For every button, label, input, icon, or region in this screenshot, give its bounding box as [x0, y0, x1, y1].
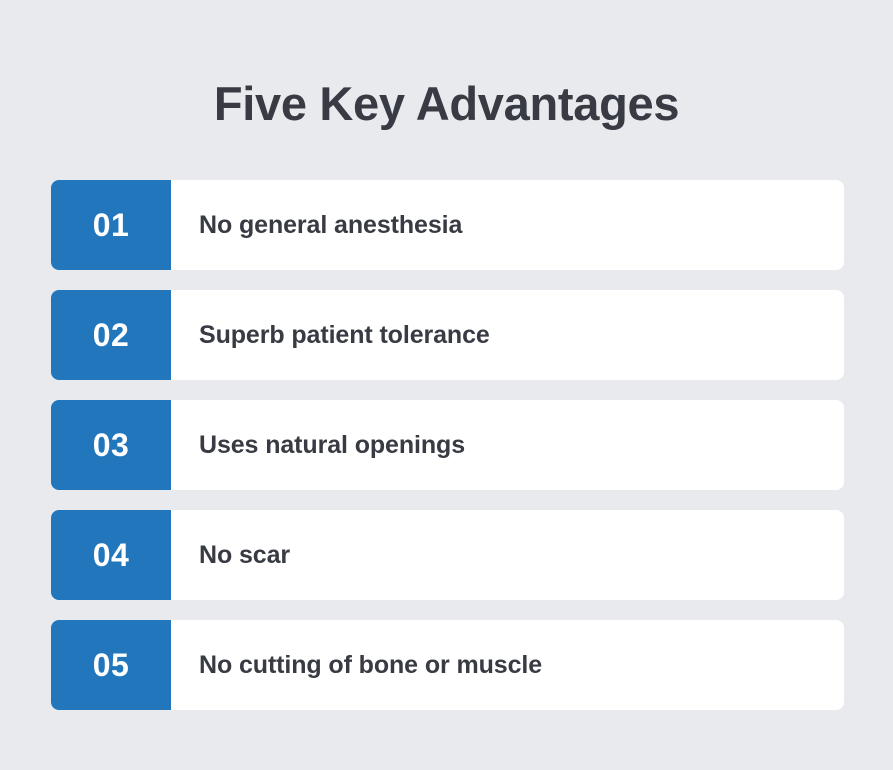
advantage-card: Uses natural openings	[171, 400, 844, 490]
advantage-card: No scar	[171, 510, 844, 600]
advantage-number-badge: 04	[51, 510, 171, 600]
advantage-list: 01 No general anesthesia 02 Superb patie…	[51, 180, 844, 710]
advantage-label: Uses natural openings	[199, 430, 465, 460]
slide-container: Five Key Advantages 01 No general anesth…	[0, 0, 893, 770]
advantage-label: Superb patient tolerance	[199, 320, 490, 350]
page-title: Five Key Advantages	[0, 76, 893, 131]
list-item[interactable]: 02 Superb patient tolerance	[51, 290, 844, 380]
list-item[interactable]: 04 No scar	[51, 510, 844, 600]
advantage-card: No general anesthesia	[171, 180, 844, 270]
advantage-label: No scar	[199, 540, 290, 570]
list-item[interactable]: 03 Uses natural openings	[51, 400, 844, 490]
advantage-label: No cutting of bone or muscle	[199, 650, 542, 680]
advantage-number-badge: 05	[51, 620, 171, 710]
list-item[interactable]: 05 No cutting of bone or muscle	[51, 620, 844, 710]
advantage-card: No cutting of bone or muscle	[171, 620, 844, 710]
advantage-label: No general anesthesia	[199, 210, 462, 240]
advantage-number-badge: 02	[51, 290, 171, 380]
advantage-card: Superb patient tolerance	[171, 290, 844, 380]
advantage-number-badge: 01	[51, 180, 171, 270]
list-item[interactable]: 01 No general anesthesia	[51, 180, 844, 270]
advantage-number-badge: 03	[51, 400, 171, 490]
